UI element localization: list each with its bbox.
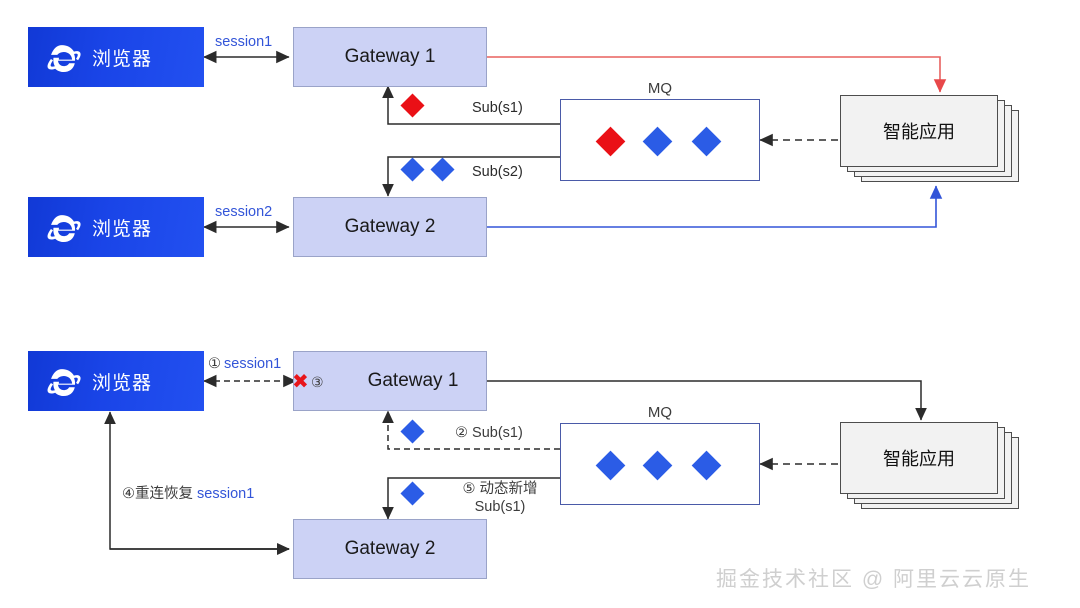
ie-browser-icon <box>40 35 84 79</box>
sub-s2-marker-blue-2 <box>430 157 454 181</box>
sub-s1-label: Sub(s1) <box>472 99 523 117</box>
step5-label: ⑤ 动态新增 Sub(s1) <box>440 480 560 516</box>
step4-text-en: session1 <box>197 486 254 502</box>
browser-node-2[interactable]: 浏览器 <box>28 197 204 257</box>
sub-s1-new-marker-blue <box>400 481 424 505</box>
app-node-bottom[interactable]: 智能应用 <box>840 422 998 494</box>
gateway-2-bottom[interactable]: Gateway 2 <box>293 519 487 579</box>
watermark: 掘金技术社区 @ 阿里云云原生 <box>716 563 1031 593</box>
mq-title-top: MQ <box>560 80 760 97</box>
session2-label: session2 <box>215 203 272 221</box>
link-gateway2-app-blue <box>487 186 936 227</box>
gateway-label: Gateway 1 <box>345 46 436 68</box>
diagram-canvas: 浏览器 Gateway 1 session1 Sub(s1) Sub(s2) M… <box>0 0 1080 608</box>
step2-number: ② <box>455 425 468 441</box>
gateway-1-top[interactable]: Gateway 1 <box>293 27 487 87</box>
app-label: 智能应用 <box>883 118 955 144</box>
gateway-label: Gateway 2 <box>345 216 436 238</box>
step4-text-cn: 重连恢复 <box>135 486 193 502</box>
sub-s1-marker-blue-bottom <box>400 419 424 443</box>
gateway-label: Gateway 2 <box>345 538 436 560</box>
step5-text-cn: 动态新增 <box>480 481 538 497</box>
connection-broken-x-icon: ✖ <box>292 372 309 392</box>
link-reconnect <box>110 412 289 549</box>
gateway-2-top[interactable]: Gateway 2 <box>293 197 487 257</box>
session1-label: session1 <box>215 33 272 51</box>
step3-number: ③ <box>311 374 324 391</box>
browser-node-1[interactable]: 浏览器 <box>28 27 204 87</box>
sub-s2-marker-blue-1 <box>400 157 424 181</box>
step5-number: ⑤ <box>462 481 475 497</box>
step4-number: ④ <box>122 486 135 502</box>
step1-label: session1 <box>224 355 281 373</box>
sub-s1-marker-red <box>400 93 424 117</box>
ie-browser-icon <box>40 205 84 249</box>
ie-browser-icon <box>40 359 84 403</box>
step2-text: Sub(s1) <box>472 425 523 441</box>
app-node-top[interactable]: 智能应用 <box>840 95 998 167</box>
app-label: 智能应用 <box>883 445 955 471</box>
connector-layer <box>0 0 1080 608</box>
step5-text-en: Sub(s1) <box>440 498 560 516</box>
step4-label: ④重连恢复 session1 <box>122 485 254 503</box>
gateway-label: Gateway 1 <box>368 370 459 392</box>
sub-s2-label: Sub(s2) <box>472 163 523 181</box>
browser-label: 浏览器 <box>92 214 152 241</box>
mq-title-bottom: MQ <box>560 404 760 421</box>
step1-number: ① <box>208 355 221 373</box>
browser-node-bottom[interactable]: 浏览器 <box>28 351 204 411</box>
browser-label: 浏览器 <box>92 368 152 395</box>
browser-label: 浏览器 <box>92 44 152 71</box>
step2-label: ② Sub(s1) <box>455 424 523 442</box>
